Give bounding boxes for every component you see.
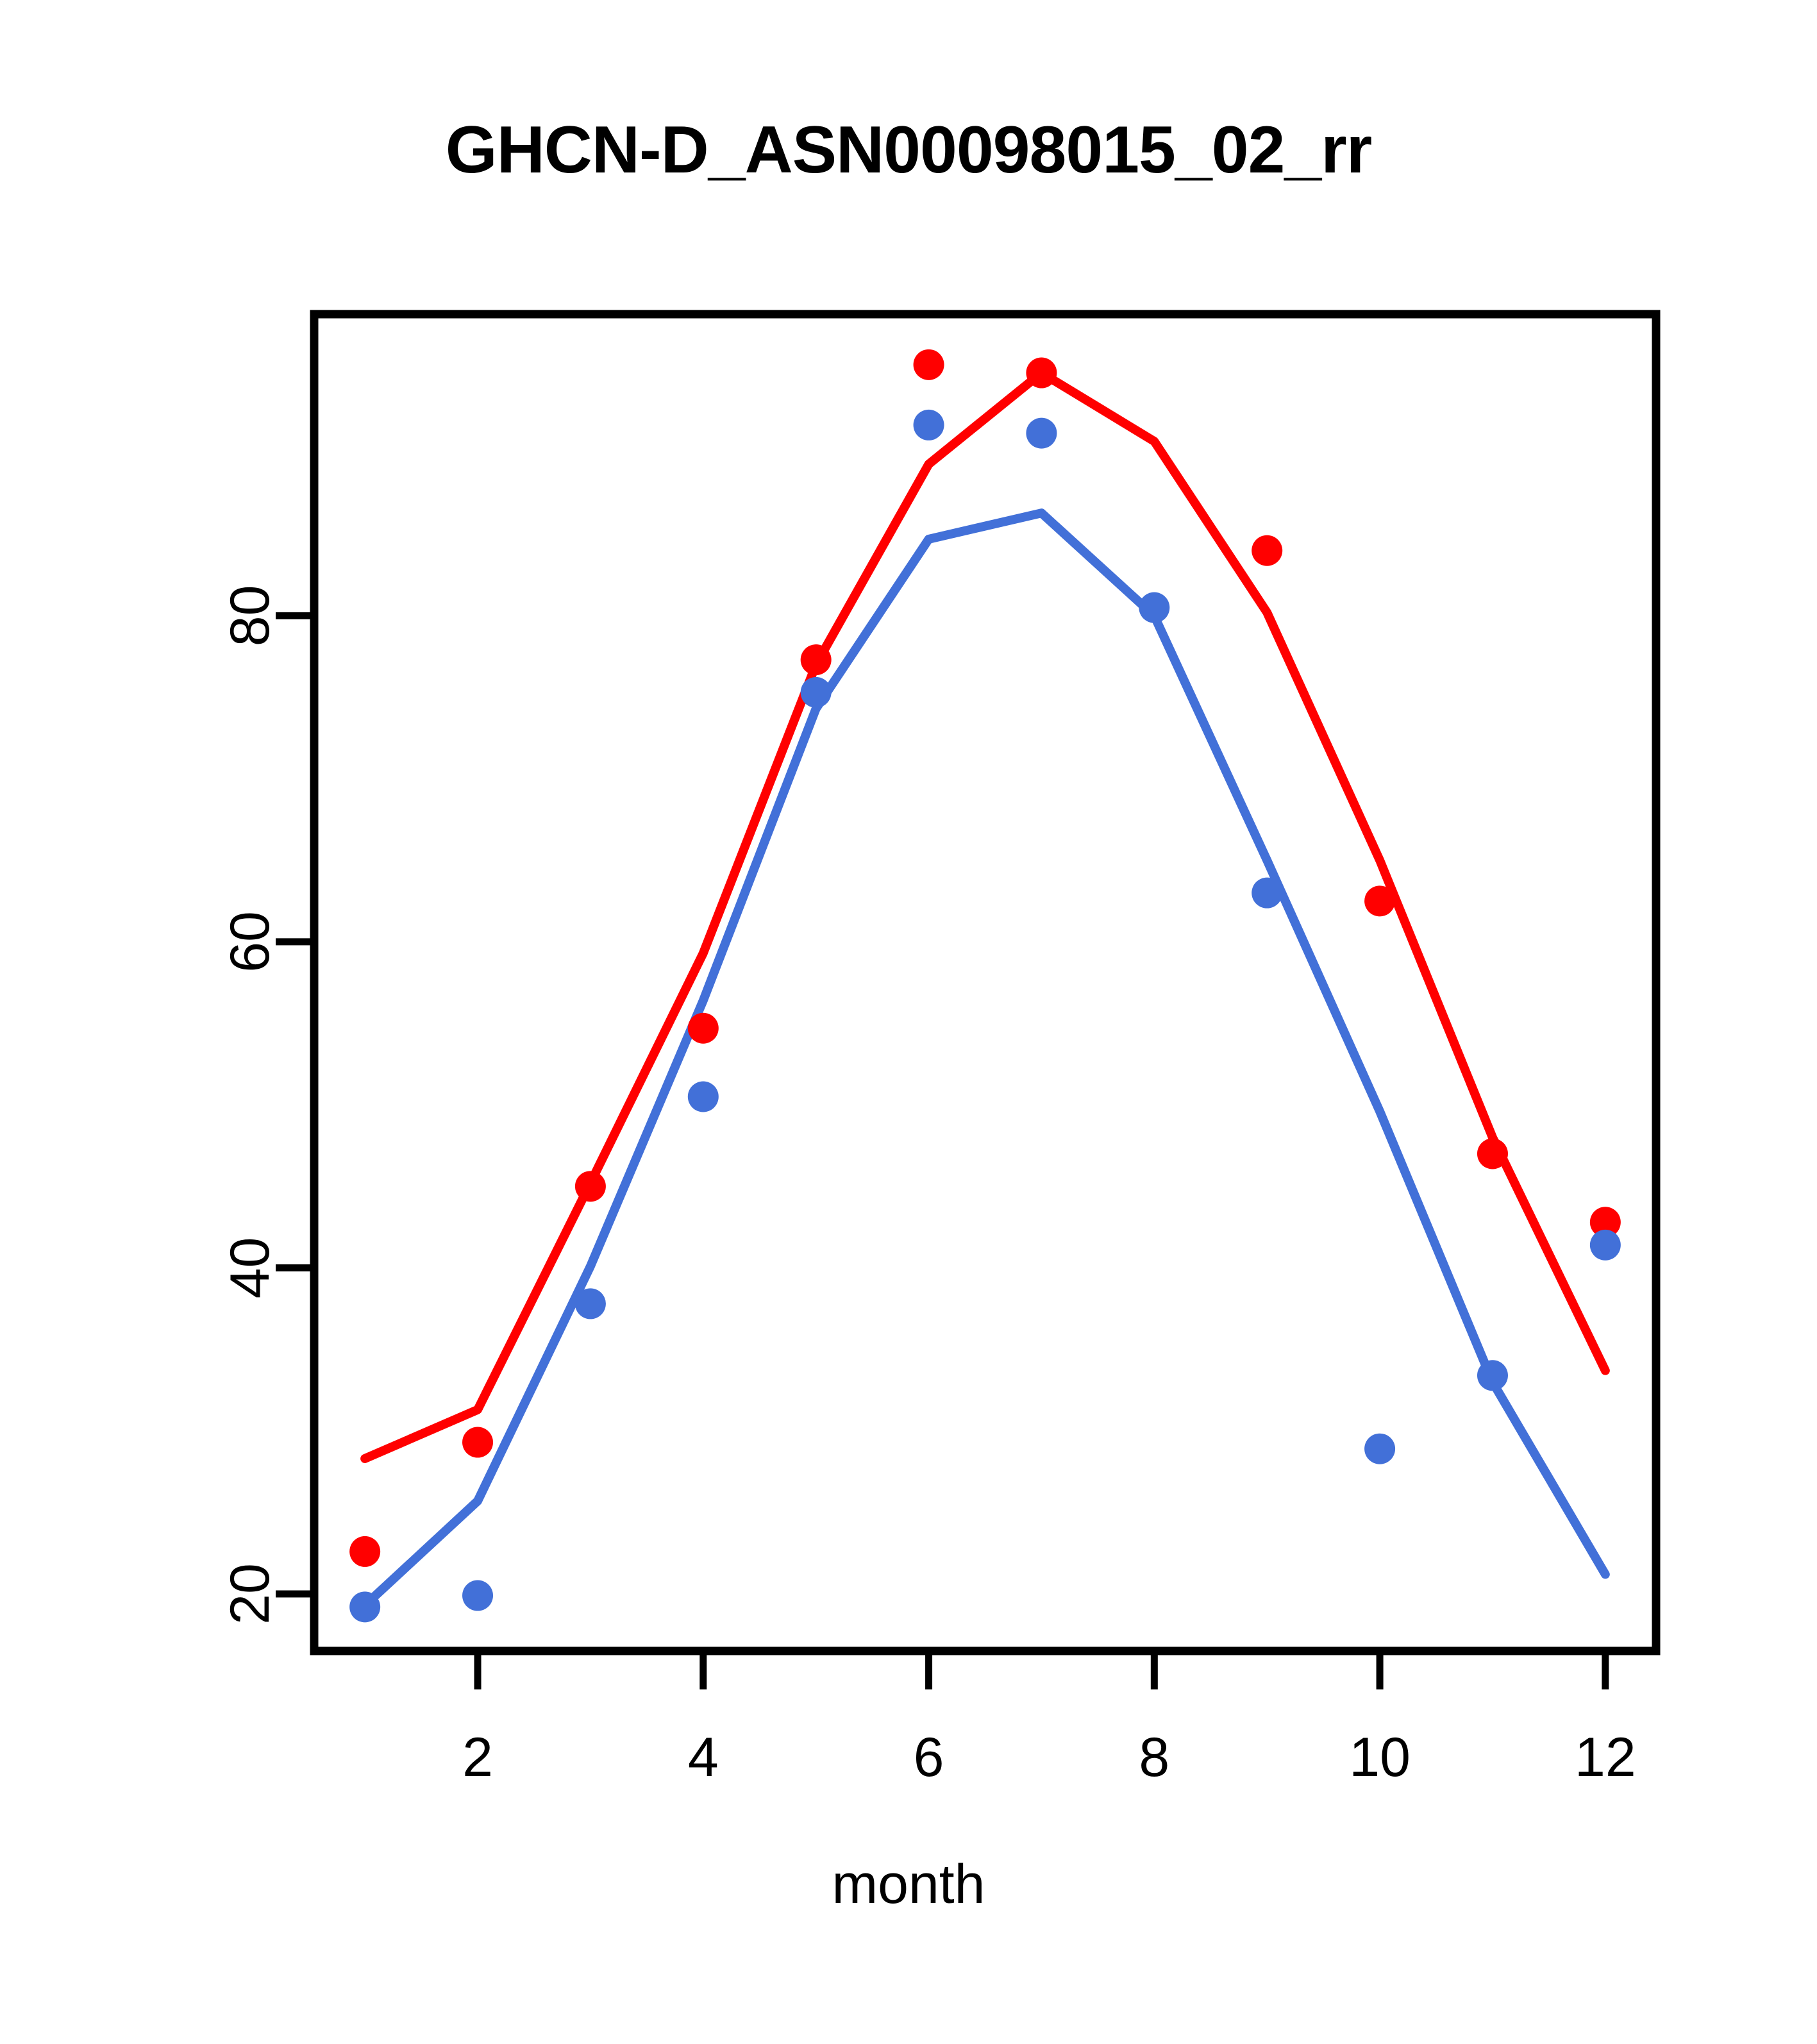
plot-frame bbox=[314, 314, 1656, 1651]
x-axis-tick-labels: 24681012 bbox=[462, 1727, 1636, 1788]
y-tick-label: 20 bbox=[219, 1563, 281, 1625]
data-point-red-points bbox=[1477, 1138, 1508, 1169]
data-point-red-points bbox=[462, 1427, 493, 1458]
data-point-red-points bbox=[801, 644, 832, 675]
data-point-red-points bbox=[349, 1536, 380, 1567]
chart-page: GHCN-D_ASN00098015_02_rr 24681012 204060… bbox=[0, 0, 1817, 2044]
y-axis-tick-labels: 20406080 bbox=[219, 585, 281, 1625]
x-tick-label: 4 bbox=[688, 1727, 719, 1788]
data-point-red-points bbox=[914, 349, 944, 380]
data-point-red-points bbox=[575, 1171, 606, 1202]
data-point-blue-points bbox=[688, 1081, 719, 1112]
data-point-blue-points bbox=[1477, 1360, 1508, 1391]
x-tick-label: 6 bbox=[914, 1727, 944, 1788]
series-line-blue-line bbox=[365, 513, 1605, 1605]
x-tick-label: 8 bbox=[1139, 1727, 1169, 1788]
data-point-red-points bbox=[1026, 358, 1057, 389]
data-point-blue-points bbox=[1364, 1434, 1395, 1464]
data-point-blue-points bbox=[914, 410, 944, 440]
x-tick-label: 10 bbox=[1349, 1727, 1411, 1788]
data-point-blue-points bbox=[349, 1591, 380, 1622]
series-line-red-line bbox=[365, 373, 1605, 1459]
data-point-blue-points bbox=[1252, 878, 1282, 909]
y-tick-label: 40 bbox=[219, 1237, 281, 1299]
y-tick-label: 60 bbox=[219, 911, 281, 973]
data-point-blue-points bbox=[801, 677, 832, 708]
x-tick-label: 2 bbox=[462, 1727, 493, 1788]
data-point-red-points bbox=[1252, 535, 1282, 566]
plot-canvas: 24681012 20406080 bbox=[0, 0, 1817, 2044]
x-axis-label: month bbox=[0, 1853, 1817, 1916]
data-point-red-points bbox=[688, 1013, 719, 1044]
data-point-red-points bbox=[1364, 885, 1395, 916]
y-axis-ticks bbox=[276, 616, 314, 1594]
series-lines bbox=[365, 373, 1605, 1605]
data-point-blue-points bbox=[462, 1580, 493, 1611]
x-tick-label: 12 bbox=[1575, 1727, 1636, 1788]
data-point-blue-points bbox=[1590, 1230, 1621, 1261]
y-tick-label: 80 bbox=[219, 585, 281, 647]
x-axis-ticks bbox=[478, 1651, 1605, 1689]
data-point-blue-points bbox=[1026, 418, 1057, 449]
plot-box bbox=[314, 314, 1656, 1651]
data-point-blue-points bbox=[575, 1288, 606, 1319]
data-point-blue-points bbox=[1139, 592, 1169, 623]
